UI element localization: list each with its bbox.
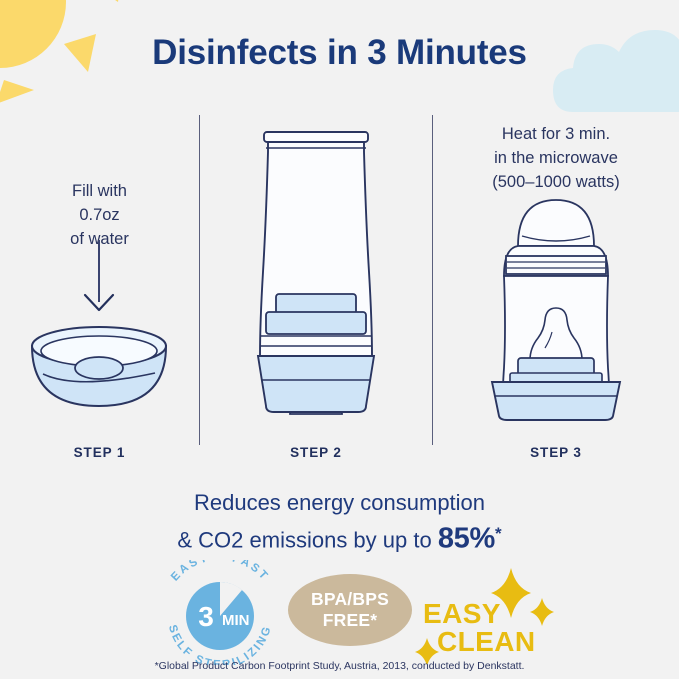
footnote: *Global Product Carbon Footprint Study, … (0, 660, 679, 672)
seal-center-number: 3 (198, 601, 214, 632)
collar-ring (266, 294, 366, 334)
three-minute-seal-icon: EASY & FAST SELF STERILIZING 3 MIN (150, 560, 290, 665)
claim-asterisk: * (495, 524, 502, 543)
assembled-bottle-illustration (456, 190, 656, 422)
step-3-caption: Heat for 3 min. in the microwave (500–10… (433, 122, 679, 194)
bowl-with-water-illustration (19, 240, 179, 420)
step-3-label: STEP 3 (433, 445, 679, 460)
down-arrow-icon (85, 240, 113, 310)
claim-prefix: & CO2 emissions by up to (177, 527, 437, 552)
badge-easy-clean: EASY CLEAN (415, 562, 567, 664)
step-2: STEP 2 (200, 112, 432, 460)
claim-percent-value: 85% (438, 522, 495, 554)
infographic-canvas: Disinfects in 3 Minutes Fill with 0.7oz … (0, 0, 679, 679)
step-1-caption-line-2: 0.7oz (0, 203, 199, 227)
step-3-caption-line-2: in the microwave (433, 146, 679, 170)
collar-and-base-parts (206, 292, 426, 422)
steps-section: Fill with 0.7oz of water (0, 112, 679, 460)
badge-3min-self-sterilizing: EASY & FAST SELF STERILIZING 3 MIN (150, 560, 290, 665)
step-1-caption-line-1: Fill with (0, 179, 199, 203)
bowl-shape (32, 327, 166, 406)
step-3-caption-line-1: Heat for 3 min. (433, 122, 679, 146)
badge-bpa-bps-free: BPA/BPS FREE* (288, 574, 412, 646)
step-1: Fill with 0.7oz of water (0, 112, 199, 460)
svg-text:EASY & FAST: EASY & FAST (169, 560, 271, 584)
seal-arc-top-text: EASY & FAST (169, 560, 271, 584)
bpa-line-2: FREE* (323, 610, 377, 631)
step-3: Heat for 3 min. in the microwave (500–10… (433, 112, 679, 460)
badge-row: EASY & FAST SELF STERILIZING 3 MIN BPA/B… (0, 560, 679, 660)
bpa-line-1: BPA/BPS (311, 589, 389, 610)
bottle-neck-ring (504, 246, 608, 276)
claim-line-2: & CO2 emissions by up to 85%* (0, 518, 679, 555)
seal-center-unit: MIN (222, 612, 250, 629)
bpa-oval-shape: BPA/BPS FREE* (288, 574, 412, 646)
dome-cap-shape (518, 200, 594, 246)
step-2-label: STEP 2 (200, 445, 432, 460)
easy-clean-line-2: CLEAN (437, 626, 535, 658)
claim-line-1: Reduces energy consumption (0, 487, 679, 518)
page-title: Disinfects in 3 Minutes (0, 33, 679, 73)
inner-collar-band (510, 358, 602, 385)
base-cap-shape (258, 356, 374, 412)
base-cap-shape (492, 382, 620, 420)
step-1-label: STEP 1 (0, 445, 199, 460)
energy-claim: Reduces energy consumption & CO2 emissio… (0, 487, 679, 555)
